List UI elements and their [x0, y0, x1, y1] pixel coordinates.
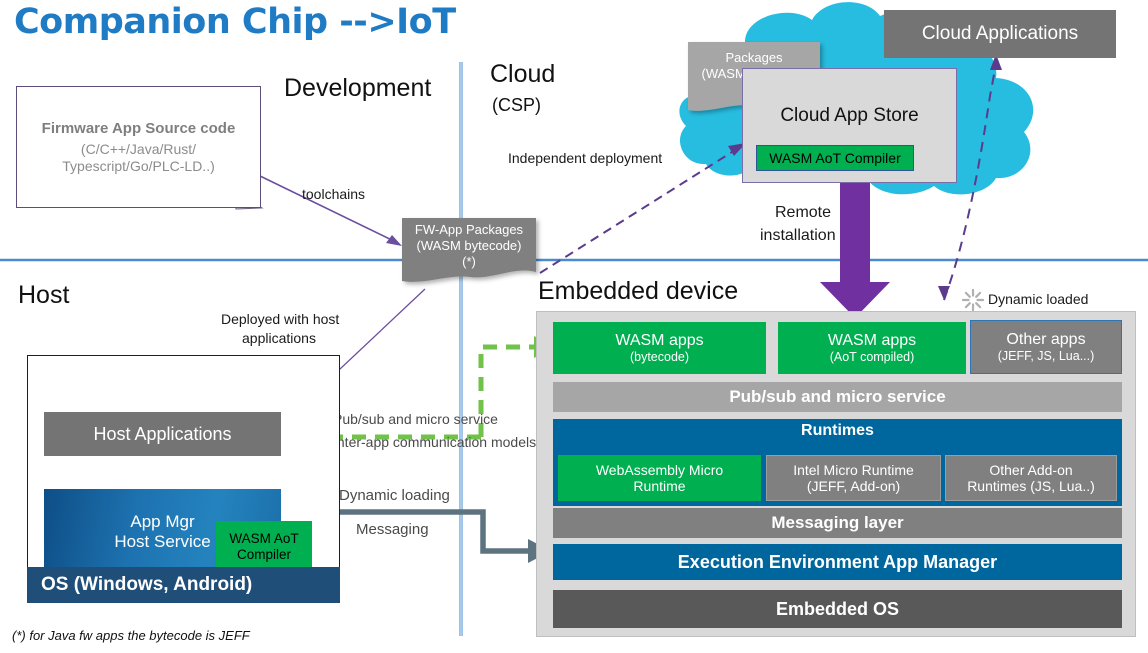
embedded-runtimes-title: Runtimes [553, 422, 1122, 440]
label-independent-deployment: Independent deployment [508, 150, 662, 166]
host-aot-compiler-l1: WASM AoT [229, 531, 298, 547]
cloud-aot-compiler-box[interactable]: WASM AoT Compiler [756, 145, 914, 171]
section-label-cloud-sub: (CSP) [492, 95, 541, 116]
embedded-exec-env-label: Execution Environment App Manager [678, 552, 997, 573]
fw-app-packages-callout-text: FW-App Packages (WASM bytecode) (*) [402, 222, 536, 270]
label-messaging: Messaging [356, 521, 429, 538]
embedded-messaging-layer[interactable]: Messaging layer [553, 508, 1122, 538]
runtime-webassembly-micro-l1: WebAssembly Micro [596, 462, 723, 478]
embedded-app-wasm-bytecode-title: WASM apps [615, 332, 703, 350]
embedded-app-wasm-bytecode[interactable]: WASM apps (bytecode) [553, 322, 766, 374]
firmware-source-line2: Typescript/Go/PLC-LD..) [62, 158, 215, 174]
embedded-os[interactable]: Embedded OS [553, 590, 1122, 628]
embedded-app-wasm-aot[interactable]: WASM apps (AoT compiled) [778, 322, 966, 374]
slide-canvas: Companion Chip -->IoT Development Cloud … [0, 0, 1148, 653]
embedded-pubsub-label: Pub/sub and micro service [729, 387, 945, 407]
embedded-exec-env-app-manager[interactable]: Execution Environment App Manager [553, 544, 1122, 580]
host-applications-box[interactable]: Host Applications [44, 412, 281, 456]
embedded-pubsub-layer[interactable]: Pub/sub and micro service [553, 382, 1122, 412]
label-pubsub-micro-service: Pub/sub and micro service [333, 411, 498, 427]
label-remote-installation-line2: installation [760, 227, 836, 245]
fw-app-packages-line1: FW-App Packages [402, 222, 536, 238]
firmware-source-line1: (C/C++/Java/Rust/ [81, 141, 196, 157]
section-label-embedded: Embedded device [538, 277, 738, 306]
legend-dynamic-loaded: Dynamic loaded [988, 291, 1088, 307]
host-app-manager-l2: Host Service [114, 532, 210, 552]
cloud-packages-line1: Packages [688, 50, 820, 66]
host-applications-label: Host Applications [93, 424, 231, 445]
label-dynamic-loading: Dynamic loading [339, 487, 450, 504]
fw-app-packages-line2: (WASM bytecode) [402, 238, 536, 254]
label-deployed-with-host-line1: Deployed with host [221, 311, 339, 327]
runtime-intel-micro-l2: (JEFF, Add-on) [807, 478, 900, 494]
firmware-source-box: Firmware App Source code (C/C++/Java/Rus… [16, 86, 261, 208]
fw-app-packages-line3: (*) [402, 254, 536, 270]
firmware-source-title: Firmware App Source code [42, 120, 236, 137]
cloud-app-store-label: Cloud App Store [743, 105, 956, 127]
spinner-icon-legend [963, 290, 983, 310]
embedded-os-label: Embedded OS [776, 599, 899, 620]
page-title: Companion Chip -->IoT [14, 2, 456, 42]
cloud-applications-label: Cloud Applications [922, 23, 1078, 45]
label-toolchains: toolchains [302, 186, 365, 202]
embedded-app-wasm-aot-sub: (AoT compiled) [830, 350, 915, 364]
runtime-intel-micro-l1: Intel Micro Runtime [793, 462, 914, 478]
host-os-label: OS (Windows, Android) [41, 574, 252, 596]
host-os-bar[interactable]: OS (Windows, Android) [27, 567, 340, 603]
host-aot-compiler-l2: Compiler [237, 547, 291, 563]
host-aot-compiler-box[interactable]: WASM AoT Compiler [216, 521, 312, 573]
embedded-app-wasm-aot-title: WASM apps [828, 332, 916, 350]
cloud-applications-box[interactable]: Cloud Applications [884, 10, 1116, 58]
label-inter-app-models: Inter-app communication models [333, 434, 536, 450]
embedded-app-other-apps-title: Other apps [1006, 331, 1085, 349]
runtime-intel-micro[interactable]: Intel Micro Runtime (JEFF, Add-on) [766, 455, 941, 501]
footnote: (*) for Java fw apps the bytecode is JEF… [12, 628, 250, 643]
label-remote-installation-line1: Remote [775, 204, 831, 222]
embedded-app-wasm-bytecode-sub: (bytecode) [630, 350, 689, 364]
embedded-app-other-apps[interactable]: Other apps (JEFF, JS, Lua...) [970, 320, 1122, 374]
cloud-aot-compiler-label: WASM AoT Compiler [769, 150, 900, 166]
runtime-other-addon-l1: Other Add-on [989, 462, 1072, 478]
section-label-development: Development [284, 74, 431, 103]
section-label-cloud: Cloud [490, 60, 555, 89]
section-label-host: Host [18, 281, 69, 310]
runtime-webassembly-micro-l2: Runtime [633, 478, 685, 494]
embedded-messaging-label: Messaging layer [771, 513, 903, 533]
label-deployed-with-host-line2: applications [242, 330, 316, 346]
runtime-other-addon[interactable]: Other Add-on Runtimes (JS, Lua..) [945, 455, 1117, 501]
host-app-manager-l1: App Mgr [130, 512, 194, 532]
runtime-webassembly-micro[interactable]: WebAssembly Micro Runtime [558, 455, 761, 501]
runtime-other-addon-l2: Runtimes (JS, Lua..) [967, 478, 1095, 494]
embedded-app-other-apps-sub: (JEFF, JS, Lua...) [998, 349, 1095, 363]
